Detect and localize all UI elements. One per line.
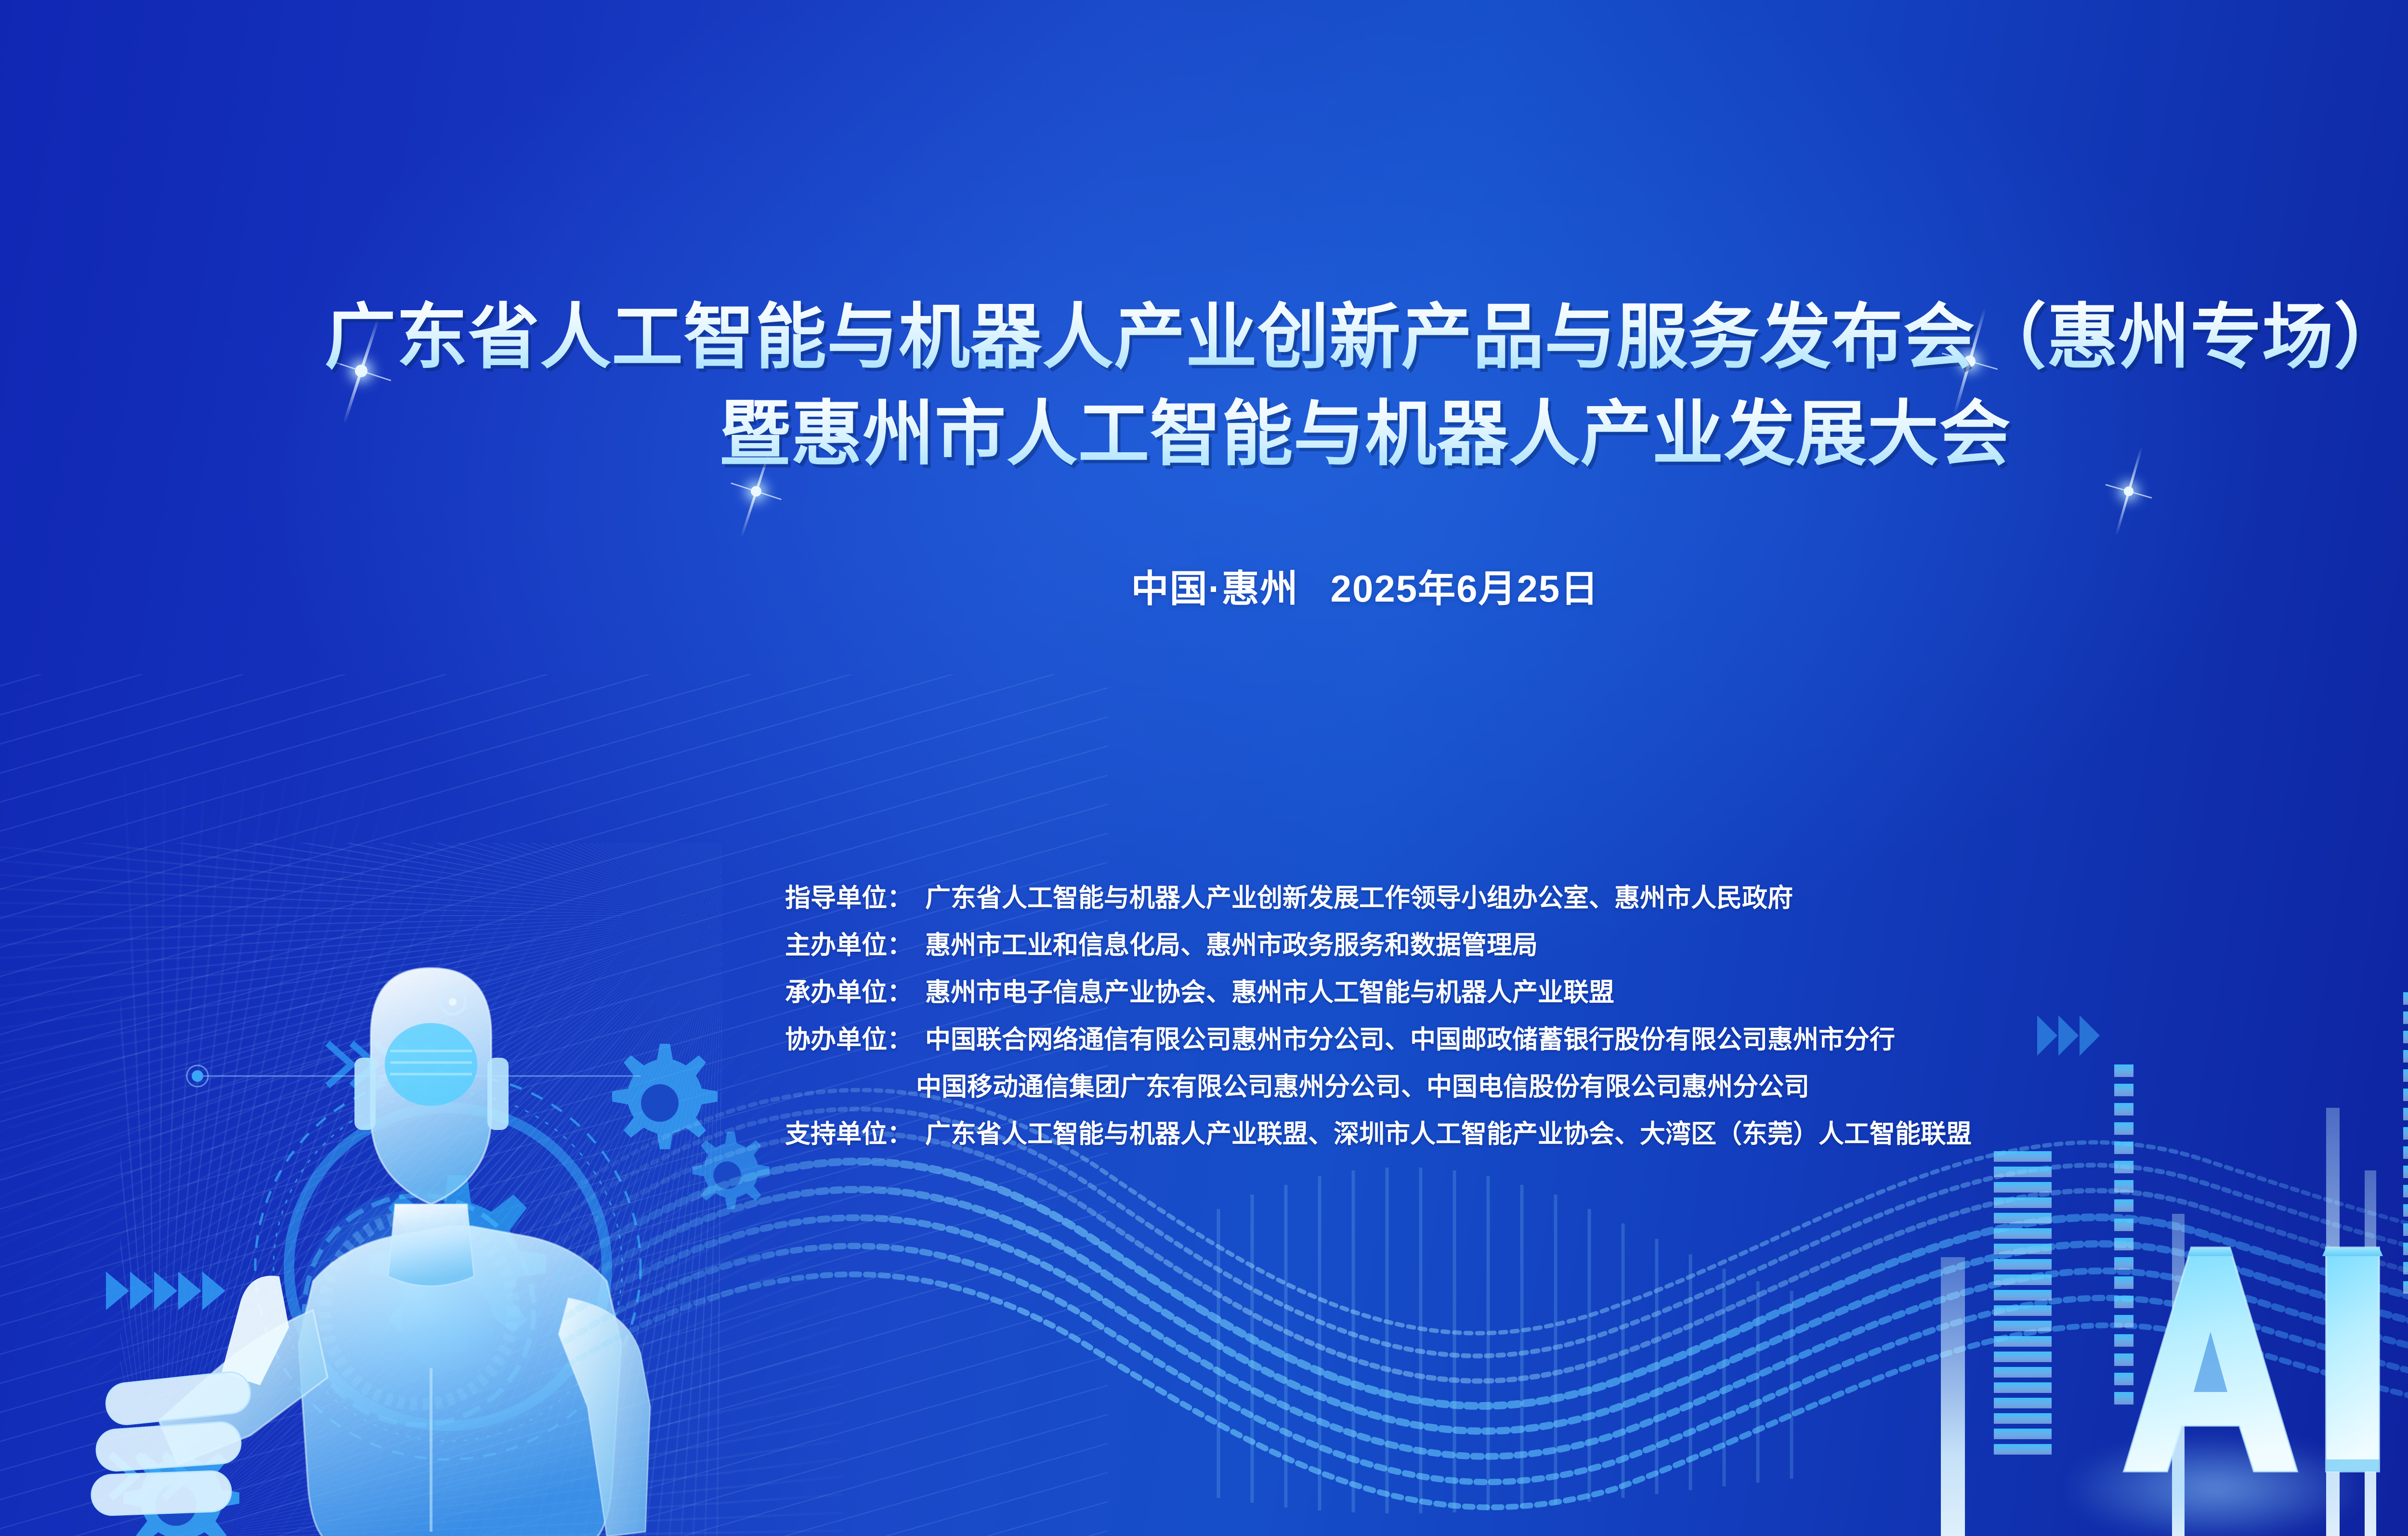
subtitle-date: 2025年6月25日 [1331, 567, 1599, 610]
chevron-arrows-outline-icon [101, 1445, 246, 1508]
robot-figure [87, 944, 727, 1536]
organizer-row: 中国移动通信集团广东有限公司惠州分公司、中国电信股份有限公司惠州分公司 [785, 1074, 2408, 1121]
organizer-label: 承办单位： [785, 980, 913, 1005]
organizer-row: 支持单位：广东省人工智能与机器人产业联盟、深圳市人工智能产业协会、大湾区（东莞）… [785, 1121, 2408, 1168]
organizer-value: 中国移动通信集团广东有限公司惠州分公司、中国电信股份有限公司惠州分公司 [916, 1074, 1809, 1100]
radial-fan-lines [120, 771, 843, 1536]
organizer-row: 协办单位：中国联合网络通信有限公司惠州市分公司、中国邮政储蓄银行股份有限公司惠州… [785, 1027, 2408, 1074]
poster-canvas: 广东省人工智能与机器人产业创新产品与服务发布会（惠州专场） 暨惠州市人工智能与机… [0, 0, 2408, 1536]
organizer-row: 指导单位：广东省人工智能与机器人产业创新发展工作领导小组办公室、惠州市人民政府 [785, 885, 2408, 932]
gear-ring-icon [231, 1050, 665, 1483]
organizer-label: 协办单位： [785, 1027, 913, 1052]
organizer-row: 主办单位：惠州市工业和信息化局、惠州市政务服务和数据管理局 [785, 932, 2408, 980]
organizer-label: 主办单位： [785, 932, 913, 958]
title-line-2: 暨惠州市人工智能与机器人产业发展大会 [0, 386, 2408, 483]
subtitle-location: 中国·惠州 [1131, 567, 1299, 610]
radial-fan-lines-secondary [0, 843, 722, 1536]
ai-glow [1999, 1411, 2408, 1536]
organizer-value: 惠州市电子信息产业协会、惠州市人工智能与机器人产业联盟 [925, 980, 1614, 1005]
gear-icon-right-small [674, 1122, 780, 1228]
subtitle-location-date: 中国·惠州2025年6月25日 [0, 559, 2408, 613]
chevron-arrows-solid-icon [101, 1262, 308, 1320]
organizer-row: 承办单位：惠州市电子信息产业协会、惠州市人工智能与机器人产业联盟 [785, 980, 2408, 1027]
organizer-value: 广东省人工智能与机器人产业联盟、深圳市人工智能产业协会、大湾区（东莞）人工智能联… [925, 1121, 1972, 1147]
organizer-label: 指导单位： [785, 885, 913, 911]
small-gear-icon [96, 1426, 255, 1536]
organizer-value: 中国联合网络通信有限公司惠州市分公司、中国邮政储蓄银行股份有限公司惠州市分行 [925, 1027, 1895, 1052]
chevron-arrows-icon [125, 1026, 645, 1108]
title-line-1: 广东省人工智能与机器人产业创新产品与服务发布会（惠州专场） [0, 289, 2408, 386]
organizer-value: 广东省人工智能与机器人产业创新发展工作领导小组办公室、惠州市人民政府 [925, 885, 1793, 911]
background-decorations [0, 0, 2408, 1536]
organizer-list: 指导单位：广东省人工智能与机器人产业创新发展工作领导小组办公室、惠州市人民政府主… [785, 885, 2408, 1168]
ai-wordmark-icon [2109, 1233, 2408, 1483]
organizer-value: 惠州市工业和信息化局、惠州市政务服务和数据管理局 [925, 932, 1538, 958]
poster-title: 广东省人工智能与机器人产业创新产品与服务发布会（惠州专场） 暨惠州市人工智能与机… [0, 289, 2408, 483]
organizer-label: 支持单位： [785, 1121, 913, 1147]
gear-icon-right [588, 1031, 732, 1175]
